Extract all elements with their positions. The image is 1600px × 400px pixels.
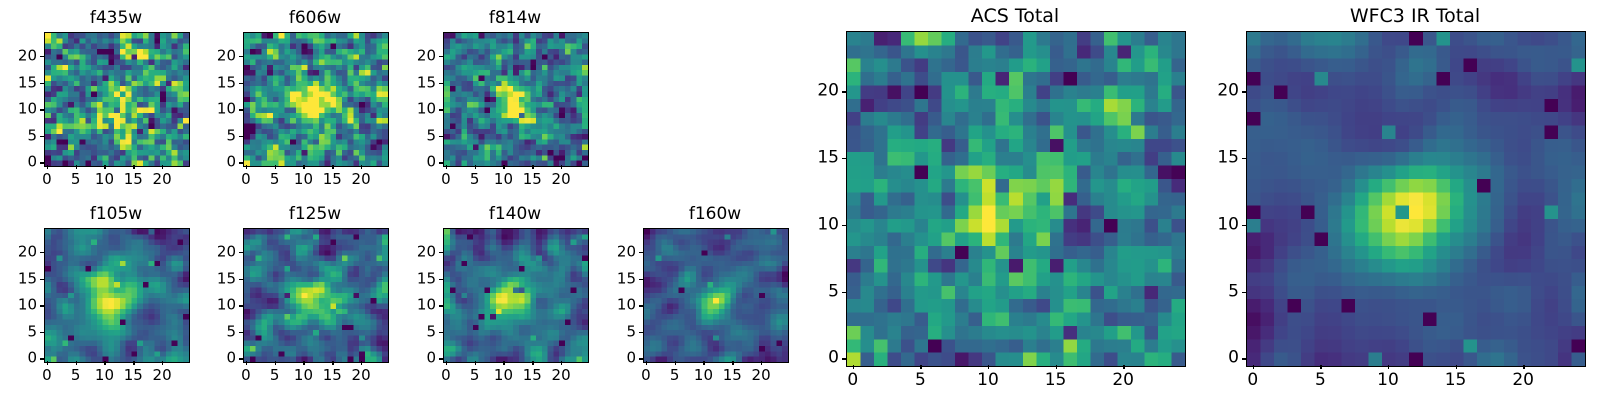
y-tick bbox=[40, 162, 44, 163]
y-tick-label: 0 bbox=[226, 351, 236, 366]
y-tick-label: 0 bbox=[27, 155, 37, 170]
y-tick bbox=[1242, 91, 1246, 92]
panel-title: f140w bbox=[441, 204, 589, 224]
y-tick bbox=[1242, 358, 1246, 359]
y-tick-label: 15 bbox=[617, 271, 636, 286]
y-tick bbox=[842, 292, 846, 293]
y-tick-label: 15 bbox=[417, 271, 436, 286]
x-tick-label: 20 bbox=[552, 172, 571, 187]
y-tick-label: 5 bbox=[226, 128, 236, 143]
panel-title: f606w bbox=[241, 8, 389, 28]
x-tick-label: 10 bbox=[95, 172, 114, 187]
x-tick-label: 5 bbox=[71, 172, 81, 187]
y-tick bbox=[639, 358, 643, 359]
y-tick-label: 10 bbox=[18, 298, 37, 313]
x-tick bbox=[1320, 365, 1321, 369]
x-tick bbox=[561, 361, 562, 365]
y-tick-label: 0 bbox=[626, 351, 636, 366]
x-tick bbox=[446, 165, 447, 169]
x-tick-label: 0 bbox=[441, 172, 451, 187]
x-tick-label: 0 bbox=[42, 172, 52, 187]
x-tick-label: 5 bbox=[470, 368, 480, 383]
x-tick-label: 0 bbox=[441, 368, 451, 383]
y-tick bbox=[239, 83, 243, 84]
y-tick-label: 20 bbox=[417, 48, 436, 63]
y-tick bbox=[239, 56, 243, 57]
heatmap-image bbox=[847, 32, 1185, 366]
y-tick bbox=[1242, 225, 1246, 226]
y-tick-label: 15 bbox=[217, 75, 236, 90]
x-tick-label: 5 bbox=[270, 368, 280, 383]
y-tick-label: 10 bbox=[18, 102, 37, 117]
x-tick bbox=[275, 165, 276, 169]
x-tick-label: 10 bbox=[294, 172, 313, 187]
y-tick-label: 0 bbox=[1228, 350, 1239, 367]
y-tick-label: 0 bbox=[426, 351, 436, 366]
y-tick bbox=[239, 109, 243, 110]
x-tick-label: 5 bbox=[915, 372, 926, 389]
x-tick-label: 0 bbox=[241, 368, 251, 383]
y-tick bbox=[639, 279, 643, 280]
x-tick bbox=[646, 361, 647, 365]
y-tick-label: 15 bbox=[18, 75, 37, 90]
x-tick-label: 5 bbox=[71, 368, 81, 383]
image-axes[interactable] bbox=[443, 32, 589, 167]
x-tick bbox=[675, 361, 676, 365]
y-tick-label: 10 bbox=[417, 298, 436, 313]
y-tick-label: 0 bbox=[27, 351, 37, 366]
x-tick bbox=[133, 361, 134, 365]
x-tick-label: 20 bbox=[552, 368, 571, 383]
y-tick-label: 5 bbox=[226, 324, 236, 339]
y-tick bbox=[40, 358, 44, 359]
heatmap-image bbox=[1247, 32, 1585, 366]
y-tick bbox=[239, 332, 243, 333]
x-tick bbox=[1388, 365, 1389, 369]
y-tick-label: 15 bbox=[18, 271, 37, 286]
x-tick bbox=[532, 165, 533, 169]
heatmap-image bbox=[45, 33, 189, 166]
x-tick bbox=[503, 165, 504, 169]
y-tick-label: 5 bbox=[27, 324, 37, 339]
x-tick-label: 15 bbox=[1445, 372, 1467, 389]
y-tick-label: 20 bbox=[217, 48, 236, 63]
x-tick bbox=[532, 361, 533, 365]
panel-title: f814w bbox=[441, 8, 589, 28]
y-tick bbox=[639, 252, 643, 253]
y-tick-label: 20 bbox=[817, 83, 839, 100]
heatmap-image bbox=[444, 229, 588, 362]
x-tick-label: 20 bbox=[352, 368, 371, 383]
panel-title: f160w bbox=[641, 204, 789, 224]
heatmap-image bbox=[244, 229, 388, 362]
x-tick-label: 15 bbox=[1045, 372, 1067, 389]
y-tick bbox=[842, 225, 846, 226]
y-tick bbox=[439, 136, 443, 137]
x-tick bbox=[1123, 365, 1124, 369]
y-tick-label: 10 bbox=[217, 298, 236, 313]
x-tick bbox=[732, 361, 733, 365]
y-tick-label: 20 bbox=[18, 48, 37, 63]
x-tick-label: 20 bbox=[153, 172, 172, 187]
y-tick bbox=[439, 305, 443, 306]
x-tick bbox=[988, 365, 989, 369]
y-tick-label: 20 bbox=[417, 244, 436, 259]
panel-title: f435w bbox=[42, 8, 190, 28]
image-axes[interactable] bbox=[44, 32, 190, 167]
x-tick-label: 15 bbox=[124, 172, 143, 187]
y-tick-label: 10 bbox=[217, 102, 236, 117]
x-tick-label: 10 bbox=[977, 372, 999, 389]
y-tick bbox=[439, 162, 443, 163]
y-tick bbox=[439, 332, 443, 333]
x-tick bbox=[76, 361, 77, 365]
x-tick bbox=[303, 361, 304, 365]
y-tick bbox=[239, 279, 243, 280]
y-tick bbox=[239, 252, 243, 253]
x-tick bbox=[104, 361, 105, 365]
y-tick-label: 15 bbox=[1217, 149, 1239, 166]
x-tick bbox=[47, 361, 48, 365]
y-tick bbox=[842, 158, 846, 159]
image-axes[interactable] bbox=[1246, 31, 1586, 367]
x-tick bbox=[1456, 365, 1457, 369]
y-tick bbox=[40, 332, 44, 333]
x-tick-label: 10 bbox=[95, 368, 114, 383]
image-axes[interactable] bbox=[243, 228, 389, 363]
x-tick bbox=[920, 365, 921, 369]
y-tick bbox=[439, 358, 443, 359]
x-tick-label: 0 bbox=[641, 368, 651, 383]
x-tick bbox=[275, 361, 276, 365]
y-tick bbox=[439, 83, 443, 84]
y-tick-label: 5 bbox=[1228, 283, 1239, 300]
y-tick bbox=[1242, 292, 1246, 293]
x-tick bbox=[703, 361, 704, 365]
heatmap-image bbox=[244, 33, 388, 166]
y-tick-label: 10 bbox=[817, 216, 839, 233]
panel-title: WFC3 IR Total bbox=[1244, 5, 1586, 27]
heatmap-image bbox=[444, 33, 588, 166]
heatmap-image bbox=[644, 229, 788, 362]
x-tick-label: 15 bbox=[523, 368, 542, 383]
y-tick bbox=[639, 305, 643, 306]
y-tick bbox=[842, 358, 846, 359]
x-tick-label: 5 bbox=[270, 172, 280, 187]
x-tick bbox=[332, 165, 333, 169]
panel-title: ACS Total bbox=[844, 5, 1186, 27]
x-tick-label: 15 bbox=[323, 172, 342, 187]
image-axes[interactable] bbox=[643, 228, 789, 363]
x-tick bbox=[246, 165, 247, 169]
x-tick bbox=[1056, 365, 1057, 369]
x-tick bbox=[761, 361, 762, 365]
y-tick bbox=[439, 56, 443, 57]
x-tick-label: 15 bbox=[323, 368, 342, 383]
y-tick bbox=[40, 83, 44, 84]
y-tick bbox=[239, 358, 243, 359]
x-tick bbox=[303, 165, 304, 169]
x-tick-label: 0 bbox=[241, 172, 251, 187]
y-tick bbox=[40, 279, 44, 280]
y-tick bbox=[239, 305, 243, 306]
y-tick-label: 20 bbox=[18, 244, 37, 259]
y-tick-label: 10 bbox=[417, 102, 436, 117]
x-tick bbox=[76, 165, 77, 169]
y-tick-label: 0 bbox=[828, 350, 839, 367]
x-tick bbox=[162, 361, 163, 365]
x-tick bbox=[1523, 365, 1524, 369]
y-tick-label: 5 bbox=[828, 283, 839, 300]
x-tick bbox=[1253, 365, 1254, 369]
x-tick-label: 20 bbox=[153, 368, 172, 383]
y-tick-label: 15 bbox=[817, 149, 839, 166]
x-tick-label: 15 bbox=[124, 368, 143, 383]
y-tick-label: 5 bbox=[626, 324, 636, 339]
x-tick-label: 0 bbox=[1247, 372, 1258, 389]
x-tick bbox=[475, 361, 476, 365]
x-tick bbox=[475, 165, 476, 169]
x-tick bbox=[246, 361, 247, 365]
y-tick-label: 20 bbox=[217, 244, 236, 259]
y-tick-label: 5 bbox=[27, 128, 37, 143]
y-tick-label: 15 bbox=[417, 75, 436, 90]
y-tick-label: 0 bbox=[426, 155, 436, 170]
y-tick bbox=[40, 136, 44, 137]
x-tick bbox=[133, 165, 134, 169]
x-tick bbox=[446, 361, 447, 365]
x-tick bbox=[361, 361, 362, 365]
y-tick bbox=[439, 279, 443, 280]
x-tick-label: 20 bbox=[752, 368, 771, 383]
y-tick bbox=[1242, 158, 1246, 159]
y-tick bbox=[40, 56, 44, 57]
y-tick-label: 5 bbox=[426, 324, 436, 339]
x-tick-label: 5 bbox=[1315, 372, 1326, 389]
y-tick bbox=[40, 252, 44, 253]
x-tick-label: 0 bbox=[847, 372, 858, 389]
x-tick-label: 15 bbox=[523, 172, 542, 187]
x-tick bbox=[561, 165, 562, 169]
x-tick-label: 5 bbox=[470, 172, 480, 187]
x-tick-label: 20 bbox=[1512, 372, 1534, 389]
x-tick-label: 20 bbox=[352, 172, 371, 187]
x-tick-label: 10 bbox=[1377, 372, 1399, 389]
y-tick bbox=[439, 252, 443, 253]
y-tick bbox=[40, 109, 44, 110]
y-tick-label: 10 bbox=[1217, 216, 1239, 233]
x-tick bbox=[503, 361, 504, 365]
x-tick bbox=[162, 165, 163, 169]
y-tick-label: 20 bbox=[1217, 83, 1239, 100]
image-axes[interactable] bbox=[44, 228, 190, 363]
y-tick-label: 0 bbox=[226, 155, 236, 170]
image-axes[interactable] bbox=[846, 31, 1186, 367]
y-tick bbox=[239, 162, 243, 163]
x-tick-label: 5 bbox=[670, 368, 680, 383]
x-tick bbox=[47, 165, 48, 169]
y-tick-label: 10 bbox=[617, 298, 636, 313]
y-tick bbox=[639, 332, 643, 333]
x-tick-label: 0 bbox=[42, 368, 52, 383]
x-tick-label: 10 bbox=[494, 172, 513, 187]
y-tick-label: 20 bbox=[617, 244, 636, 259]
x-tick-label: 10 bbox=[494, 368, 513, 383]
y-tick bbox=[439, 109, 443, 110]
x-tick bbox=[332, 361, 333, 365]
x-tick-label: 20 bbox=[1112, 372, 1134, 389]
panel-title: f125w bbox=[241, 204, 389, 224]
panel-title: f105w bbox=[42, 204, 190, 224]
y-tick bbox=[40, 305, 44, 306]
image-axes[interactable] bbox=[243, 32, 389, 167]
y-tick-label: 5 bbox=[426, 128, 436, 143]
x-tick bbox=[853, 365, 854, 369]
y-tick bbox=[239, 136, 243, 137]
x-tick bbox=[361, 165, 362, 169]
y-tick bbox=[842, 91, 846, 92]
x-tick-label: 10 bbox=[694, 368, 713, 383]
x-tick-label: 15 bbox=[723, 368, 742, 383]
heatmap-image bbox=[45, 229, 189, 362]
y-tick-label: 15 bbox=[217, 271, 236, 286]
image-axes[interactable] bbox=[443, 228, 589, 363]
x-tick-label: 10 bbox=[294, 368, 313, 383]
x-tick bbox=[104, 165, 105, 169]
